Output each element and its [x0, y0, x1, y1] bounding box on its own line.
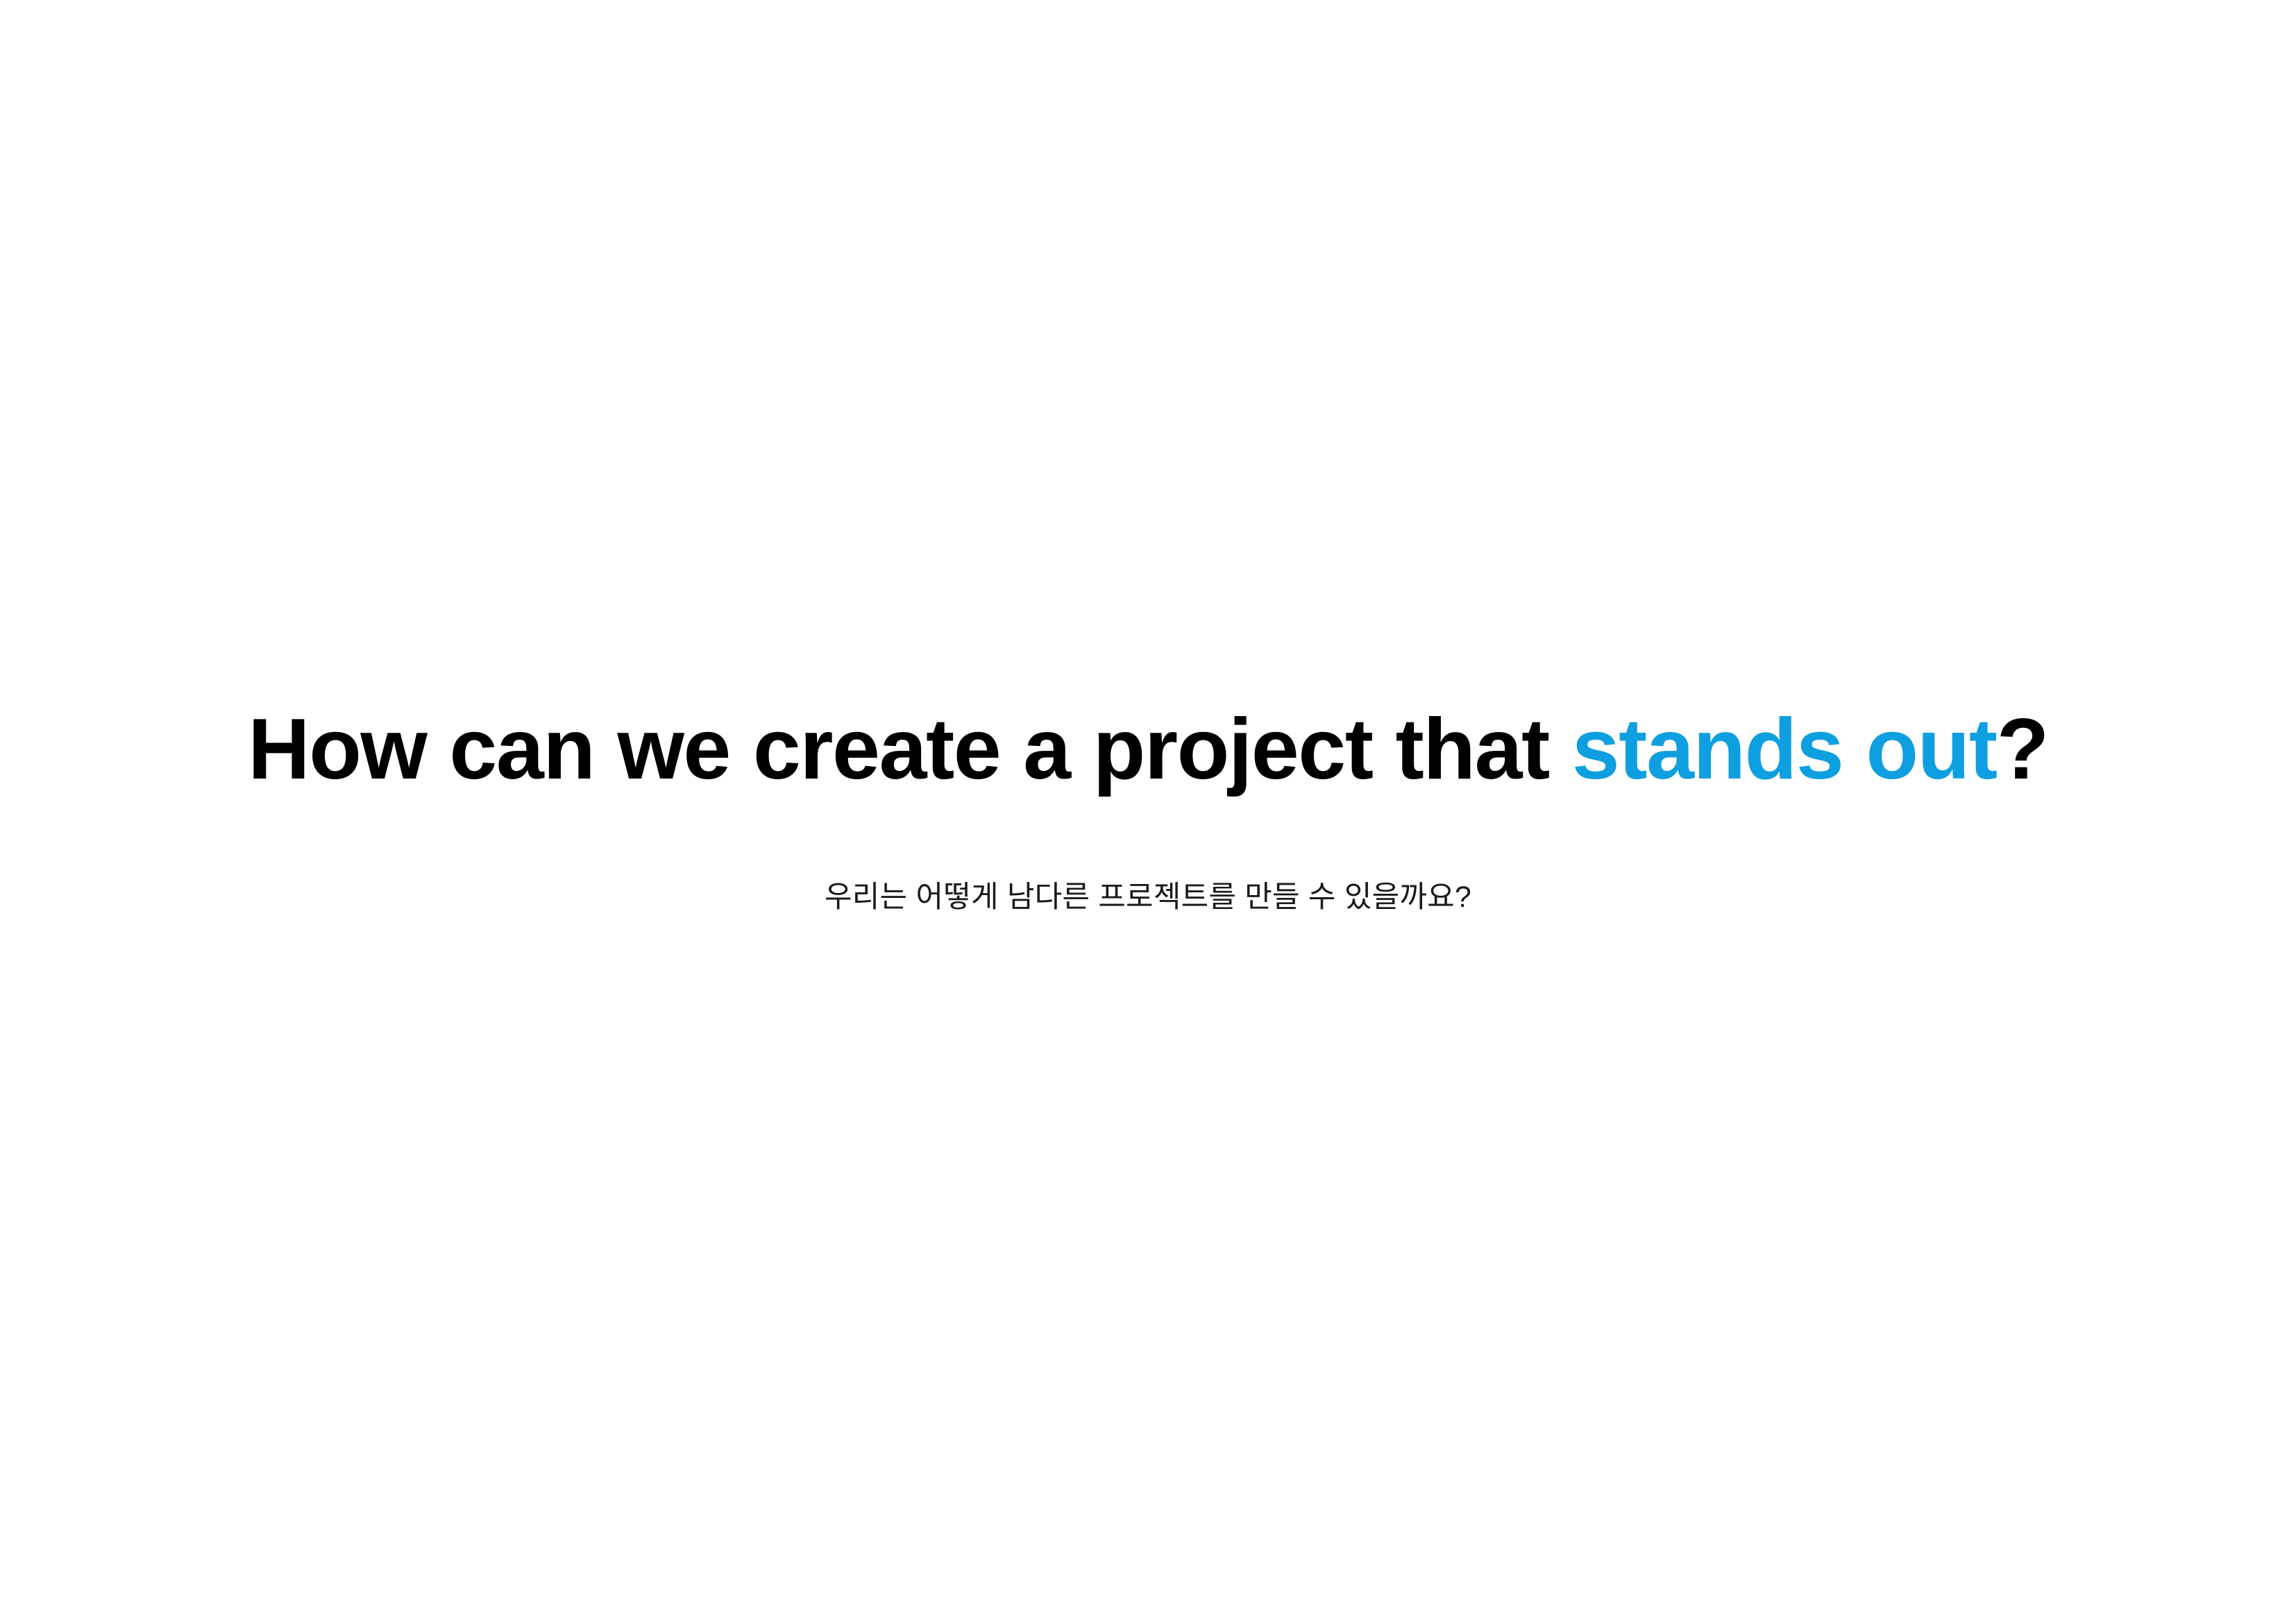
headline-question-mark: ? [1997, 702, 2048, 797]
page-title: How can we create a project that stands … [0, 694, 2296, 805]
presentation-slide: How can we create a project that stands … [0, 0, 2296, 1623]
headline-accent-text: stands out [1572, 702, 1997, 797]
subtitle-korean-translation: 우리는 어떻게 남다른 프로젝트를 만들 수 있을까요? [0, 876, 2296, 919]
headline-container: How can we create a project that stands … [0, 694, 2296, 805]
headline-lead-text: How can we create a project that [248, 702, 1572, 797]
subtitle-container: 우리는 어떻게 남다른 프로젝트를 만들 수 있을까요? [0, 876, 2296, 919]
